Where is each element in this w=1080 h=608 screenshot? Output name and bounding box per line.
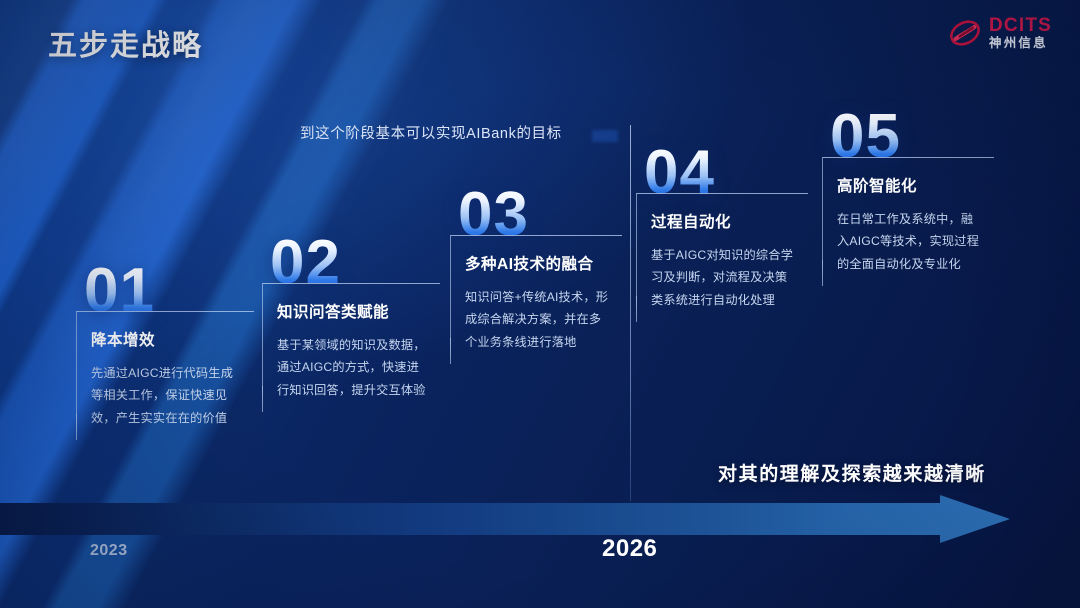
brand-logo: DCITS 神州信息 bbox=[948, 16, 1052, 50]
logo-wordmark: DCITS 神州信息 bbox=[989, 16, 1052, 50]
right-arrow-icon bbox=[0, 495, 1010, 543]
step-heading: 多种AI技术的融合 bbox=[465, 252, 612, 274]
step-card-04[interactable]: 04 过程自动化 基于AIGC对知识的综合学习及判断，对流程及决策类系统进行自动… bbox=[636, 148, 814, 322]
logo-latin-text: DCITS bbox=[989, 16, 1052, 35]
step-number: 05 bbox=[830, 112, 1000, 163]
step-number: 01 bbox=[84, 266, 254, 317]
annotation-highlight-mark bbox=[592, 130, 618, 142]
step-card-body: 过程自动化 基于AIGC对知识的综合学习及判断，对流程及决策类系统进行自动化处理 bbox=[636, 193, 808, 322]
step-card-01[interactable]: 01 降本增效 先通过AIGC进行代码生成等相关工作，保证快速见效，产生实实在在… bbox=[76, 266, 254, 440]
slide-canvas: 五步走战略 DCITS 神州信息 到这个阶段基本可以实现AIBank的目标 01… bbox=[0, 0, 1080, 608]
step-description: 基于某领域的知识及数据，通过AIGC的方式，快速进行知识回答，提升交互体验 bbox=[277, 334, 430, 402]
timeline-year-end: 2026 bbox=[602, 535, 657, 563]
step-description: 知识问答+传统AI技术，形成综合解决方案，并在多个业务条线进行落地 bbox=[465, 286, 612, 354]
timeline-year-start: 2023 bbox=[90, 542, 128, 560]
step-heading: 过程自动化 bbox=[651, 210, 798, 232]
center-divider-line bbox=[630, 125, 631, 501]
step-card-03[interactable]: 03 多种AI技术的融合 知识问答+传统AI技术，形成综合解决方案，并在多个业务… bbox=[450, 190, 628, 364]
step-heading: 知识问答类赋能 bbox=[277, 300, 430, 322]
step-card-body: 知识问答类赋能 基于某领域的知识及数据，通过AIGC的方式，快速进行知识回答，提… bbox=[262, 283, 440, 412]
step-card-body: 高阶智能化 在日常工作及系统中，融入AIGC等技术，实现过程的全面自动化及专业化 bbox=[822, 157, 994, 286]
dcits-swirl-icon bbox=[948, 16, 982, 50]
step-heading: 降本增效 bbox=[91, 328, 244, 350]
annotation-text: 到这个阶段基本可以实现AIBank的目标 bbox=[300, 122, 562, 143]
step-number: 02 bbox=[270, 238, 440, 289]
step-description: 基于AIGC对知识的综合学习及判断，对流程及决策类系统进行自动化处理 bbox=[651, 244, 798, 312]
step-card-body: 降本增效 先通过AIGC进行代码生成等相关工作，保证快速见效，产生实实在在的价值 bbox=[76, 311, 254, 440]
page-title: 五步走战略 bbox=[48, 22, 203, 64]
step-description: 在日常工作及系统中，融入AIGC等技术，实现过程的全面自动化及专业化 bbox=[837, 208, 984, 276]
step-card-body: 多种AI技术的融合 知识问答+传统AI技术，形成综合解决方案，并在多个业务条线进… bbox=[450, 235, 622, 364]
step-description: 先通过AIGC进行代码生成等相关工作，保证快速见效，产生实实在在的价值 bbox=[91, 362, 244, 430]
step-number: 03 bbox=[458, 190, 628, 241]
step-number: 04 bbox=[644, 148, 814, 199]
step-card-02[interactable]: 02 知识问答类赋能 基于某领域的知识及数据，通过AIGC的方式，快速进行知识回… bbox=[262, 238, 440, 412]
tagline-text: 对其的理解及探索越来越清晰 bbox=[718, 459, 986, 486]
step-heading: 高阶智能化 bbox=[837, 174, 984, 196]
step-card-05[interactable]: 05 高阶智能化 在日常工作及系统中，融入AIGC等技术，实现过程的全面自动化及… bbox=[822, 112, 1000, 286]
logo-chinese-text: 神州信息 bbox=[989, 37, 1052, 50]
